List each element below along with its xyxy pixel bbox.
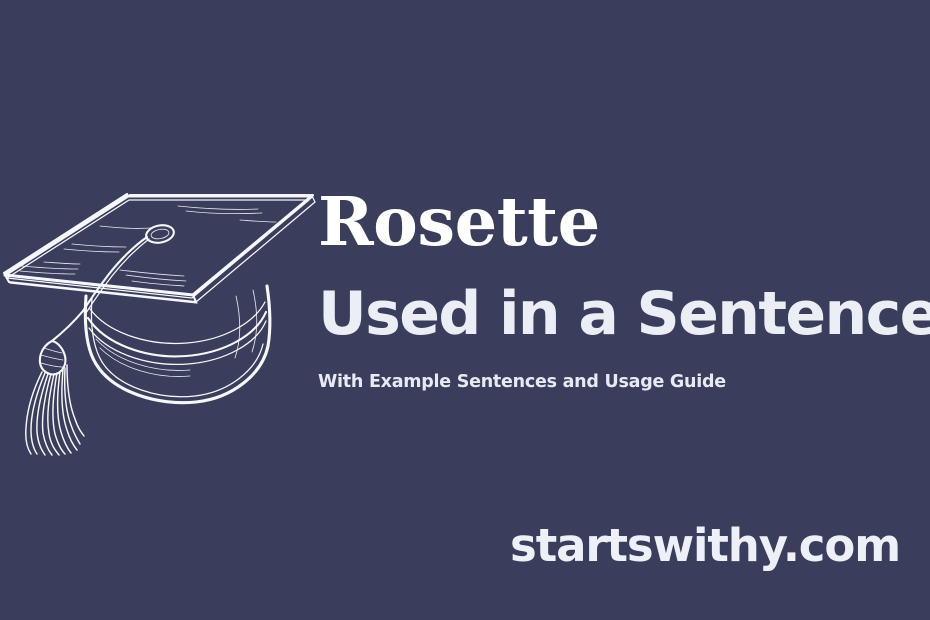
share-card: Rosette Used in a Sentence With Example … [0, 0, 930, 620]
graduation-cap-icon [0, 178, 320, 456]
page-tagline: With Example Sentences and Usage Guide [318, 371, 918, 393]
page-headline: Used in a Sentence [318, 281, 918, 347]
page-title-word: Rosette [318, 185, 918, 259]
brand-domain[interactable]: startswithy.com [510, 518, 900, 574]
hero-text-block: Rosette Used in a Sentence With Example … [318, 185, 918, 393]
